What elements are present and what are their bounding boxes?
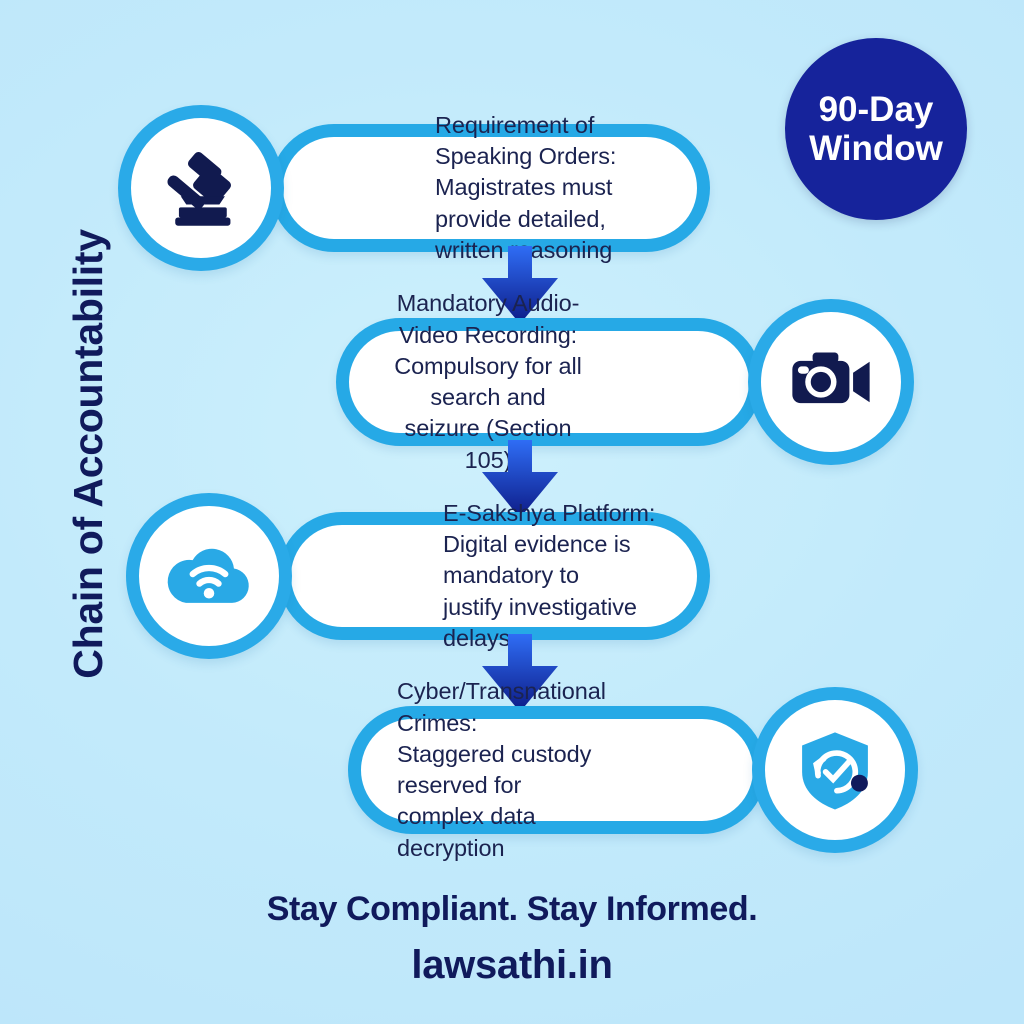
step-card-text: Cyber/Transnational Crimes: Staggered cu… bbox=[397, 676, 601, 864]
step-card-pill: Cyber/Transnational Crimes: Staggered cu… bbox=[348, 706, 766, 834]
infographic-canvas: Chain of Accountability 90-Day Window Re… bbox=[0, 0, 1024, 1024]
step-card-audio-video-recording: Mandatory Audio-Video Recording: Compuls… bbox=[336, 318, 914, 446]
shield-check-icon bbox=[788, 723, 882, 817]
step-card-cyber-transnational-crimes: Cyber/Transnational Crimes: Staggered cu… bbox=[348, 706, 918, 834]
step-icon-circle bbox=[748, 299, 914, 465]
step-icon-circle bbox=[752, 687, 918, 853]
footer-website: lawsathi.in bbox=[0, 943, 1024, 988]
step-card-pill: Requirement of Speaking Orders: Magistra… bbox=[270, 124, 710, 252]
step-card-text: E-Sakshya Platform: Digital evidence is … bbox=[443, 498, 671, 654]
ninety-day-window-badge: 90-Day Window bbox=[785, 38, 967, 220]
cloud-wifi-icon bbox=[161, 528, 257, 624]
vertical-title-text: Chain of Accountability bbox=[65, 229, 112, 678]
step-card-e-sakshya-platform: E-Sakshya Platform: Digital evidence is … bbox=[126, 512, 710, 640]
step-card-pill: E-Sakshya Platform: Digital evidence is … bbox=[278, 512, 710, 640]
step-card-speaking-orders: Requirement of Speaking Orders: Magistra… bbox=[118, 124, 710, 252]
gavel-icon bbox=[155, 142, 247, 234]
step-icon-circle bbox=[126, 493, 292, 659]
badge-line-2: Window bbox=[809, 129, 943, 168]
video-camera-icon bbox=[785, 336, 877, 428]
step-card-pill: Mandatory Audio-Video Recording: Compuls… bbox=[336, 318, 762, 446]
footer: Stay Compliant. Stay Informed. lawsathi.… bbox=[0, 890, 1024, 988]
vertical-title: Chain of Accountability bbox=[58, 144, 118, 764]
step-icon-circle bbox=[118, 105, 284, 271]
footer-tagline: Stay Compliant. Stay Informed. bbox=[0, 890, 1024, 929]
badge-line-1: 90-Day bbox=[819, 90, 934, 129]
step-card-text: Requirement of Speaking Orders: Magistra… bbox=[435, 110, 671, 266]
